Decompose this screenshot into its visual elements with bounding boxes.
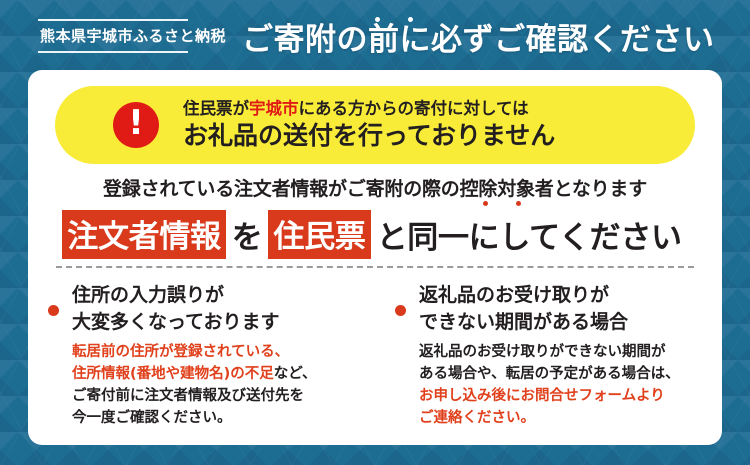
column-body-line-1: 返礼品のお受け取りができない期間が — [419, 341, 712, 363]
brand-rule-top — [38, 19, 188, 21]
info-columns: 住所の入力誤りが 大変多くなっております 転居前の住所が登録されている、 住所情… — [28, 282, 722, 429]
column-body: 返礼品のお受け取りができない期間が ある場合や、転居の予定がある場合は、 お申し… — [419, 341, 712, 429]
emphasis-dot-title-2 — [408, 17, 413, 22]
page-title: ご寄附の前に必ずご確認ください — [242, 14, 715, 59]
emphasis-dot-statement-2 — [516, 201, 521, 206]
alert-text-block: 住民票が宇城市にある方からの寄付に対しては お礼品の送付を行っておりません — [183, 99, 555, 150]
promo-banner: 熊本県宇城市ふるさと納税 ご寄附の前に必ずご確認ください ! 住民票が宇城市にあ… — [0, 0, 750, 465]
column-body: 転居前の住所が登録されている、 住所情報(番地や建物名)の不足など、 ご寄付前に… — [72, 341, 365, 429]
column-body-line-1: 転居前の住所が登録されている、 — [72, 341, 365, 363]
column-heading-line-2: 大変多くなっております — [72, 309, 365, 336]
statement-particle-wo: を — [226, 212, 269, 257]
exclamation-icon: ! — [113, 102, 159, 148]
column-body-line-1-red: 転居前の住所が登録されている、 — [72, 344, 289, 360]
statement-block: 登録されている注文者情報がご寄附の際の控除対象者となります 注文者情報 を 住民… — [28, 174, 722, 259]
column-body-line-2: 住所情報(番地や建物名)の不足など、 — [72, 363, 365, 385]
column-body-line-3: お申し込み後にお問合せフォームより — [419, 385, 712, 407]
alert-line-1: 住民票が宇城市にある方からの寄付に対しては — [183, 99, 555, 120]
statement-boxed-residence: 住民票 — [268, 210, 370, 259]
statement-line-2: 注文者情報 を 住民票 と同一にしてください — [28, 210, 722, 259]
column-body-line-2-black: など、 — [274, 366, 317, 382]
column-body-line-4: 今一度ご確認ください。 — [72, 407, 365, 429]
bullet-icon — [395, 305, 406, 316]
column-body-line-4: ご連絡ください。 — [419, 407, 712, 429]
brand-block: 熊本県宇城市ふるさと納税 — [38, 14, 226, 58]
alert-line1-highlight: 宇城市 — [249, 99, 299, 118]
info-column-address-errors: 住所の入力誤りが 大変多くなっております 転居前の住所が登録されている、 住所情… — [28, 282, 375, 429]
alert-line1-before: 住民票が — [183, 99, 249, 118]
header-title-wrap: ご寄附の前に必ずご確認ください — [242, 14, 715, 59]
column-heading-line-1: 返礼品のお受け取りが — [419, 282, 712, 309]
emphasis-dot-statement-1 — [483, 201, 488, 206]
banner-header: 熊本県宇城市ふるさと納税 ご寄附の前に必ずご確認ください — [0, 0, 750, 72]
column-heading: 住所の入力誤りが 大変多くなっております — [72, 282, 365, 336]
column-heading: 返礼品のお受け取りが できない期間がある場合 — [419, 282, 712, 336]
alert-line-2: お礼品の送付を行っておりません — [183, 121, 555, 151]
column-body-line-3: ご寄付前に注文者情報及び送付先を — [72, 385, 365, 407]
column-body-line-3-red: お申し込み後にお問合せフォームより — [419, 388, 665, 404]
brand-name: 熊本県宇城市ふるさと納税 — [38, 21, 226, 51]
statement-boxed-orderer-info: 注文者情報 — [62, 210, 226, 259]
column-body-line-2: ある場合や、転居の予定がある場合は、 — [419, 363, 712, 385]
exclamation-glyph: ! — [128, 106, 144, 140]
statement-tail: と同一にしてください — [371, 212, 688, 257]
column-body-line-2-red: 住所情報(番地や建物名)の不足 — [72, 366, 274, 382]
brand-rule-bottom — [38, 51, 188, 53]
content-card: ! 住民票が宇城市にある方からの寄付に対しては お礼品の送付を行っておりません … — [28, 70, 722, 445]
statement-line-1: 登録されている注文者情報がご寄附の際の控除対象者となります — [28, 174, 722, 201]
dashed-divider — [56, 266, 694, 268]
column-body-line-4-red: ご連絡ください。 — [419, 410, 535, 426]
column-heading-line-2: できない期間がある場合 — [419, 309, 712, 336]
alert-banner: ! 住民票が宇城市にある方からの寄付に対しては お礼品の送付を行っておりません — [55, 86, 695, 164]
column-heading-line-1: 住所の入力誤りが — [72, 282, 365, 309]
alert-line1-after: にある方からの寄付に対しては — [299, 99, 529, 118]
bullet-icon — [48, 305, 59, 316]
info-column-delivery-window: 返礼品のお受け取りが できない期間がある場合 返礼品のお受け取りができない期間が… — [375, 282, 722, 429]
emphasis-dot-title-1 — [375, 17, 380, 22]
